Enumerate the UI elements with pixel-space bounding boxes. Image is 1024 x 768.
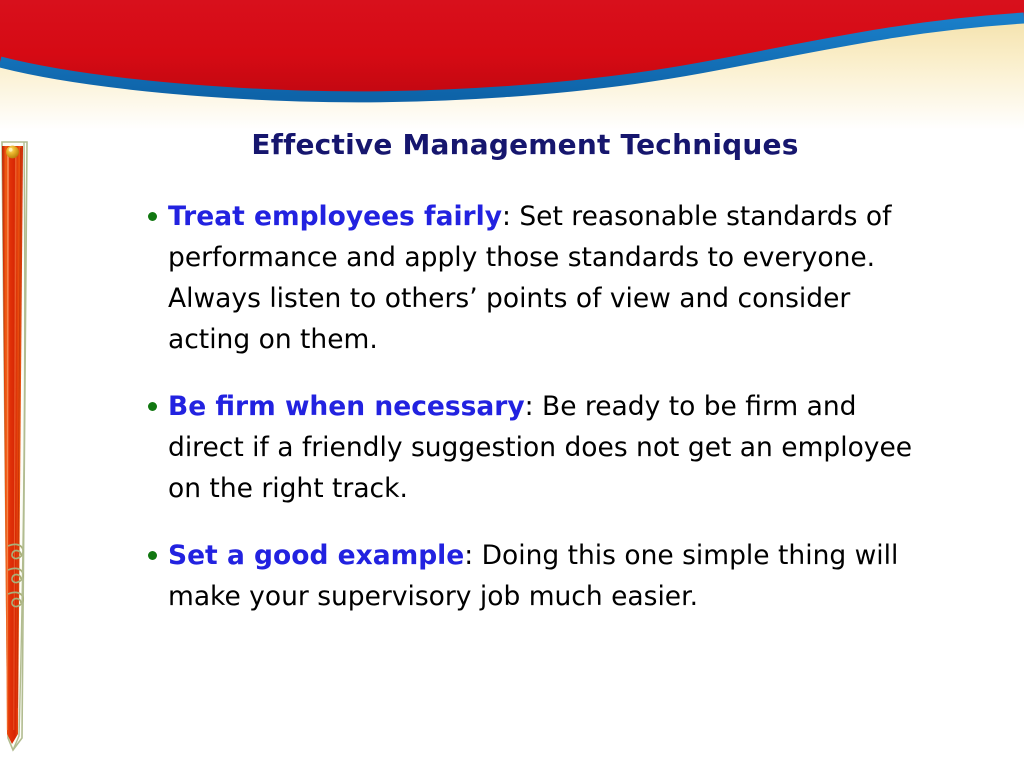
list-item: Be firm when necessary: Be ready to be f… (140, 386, 940, 509)
bullet-list: Treat employees fairly: Set reasonable s… (140, 196, 940, 617)
bullet-dot-icon (148, 212, 157, 221)
gold-bead-glint (9, 148, 13, 152)
header-wave-band (0, 0, 1024, 130)
list-item: Treat employees fairly: Set reasonable s… (140, 196, 940, 360)
wave-band-icon (0, 0, 1024, 130)
banner-graphic (0, 138, 46, 758)
bullet-dot-icon (148, 551, 157, 560)
bullet-lead-text: Treat employees fairly (168, 201, 502, 232)
list-item: Set a good example: Doing this one simpl… (140, 535, 940, 617)
bullet-lead-text: Set a good example (168, 540, 464, 571)
bullet-lead-text: Be firm when necessary (168, 391, 525, 422)
bullet-dot-icon (148, 402, 157, 411)
left-decorative-banner (0, 138, 46, 758)
gold-bead-icon (6, 146, 19, 159)
page-title: Effective Management Techniques (60, 128, 990, 161)
presentation-slide: Effective Management Techniques Treat em… (0, 0, 1024, 768)
